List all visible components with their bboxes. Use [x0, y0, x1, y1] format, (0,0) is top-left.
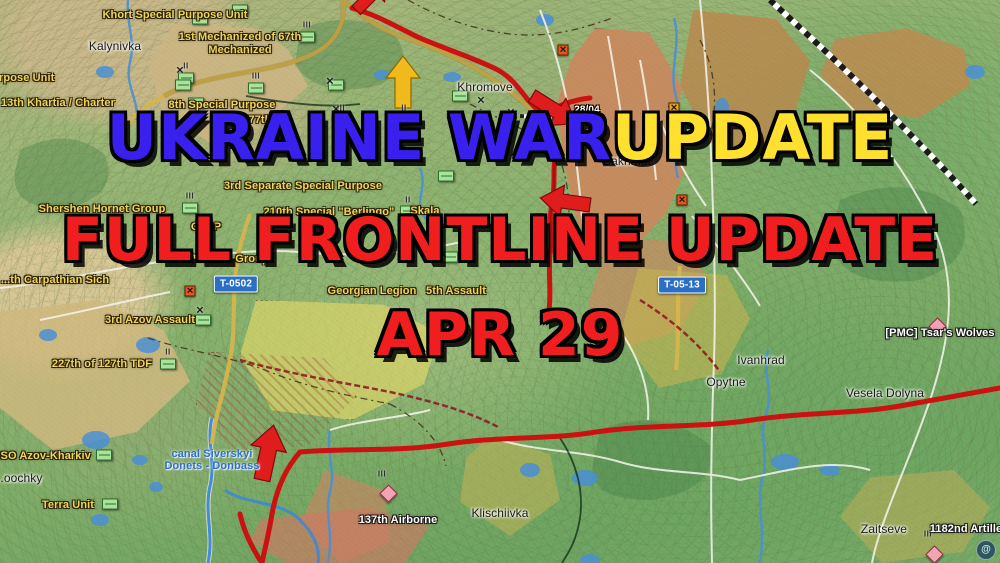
unit-symbol[interactable]: [396, 115, 412, 126]
unit-label-khort: Khort Special Purpose Unit: [102, 9, 247, 21]
unit-label-tactical-group: Tactical Group: [191, 253, 269, 265]
unit-label-3rd-azov: 3rd Azov Assault: [105, 314, 195, 326]
date-marker: 28/04: [574, 105, 600, 116]
echelon-marker: III: [303, 21, 311, 30]
unit-symbol[interactable]: [333, 115, 349, 126]
position-marker: ✕: [176, 66, 184, 77]
echelon-marker: II: [405, 196, 410, 205]
strike-marker[interactable]: ✕: [558, 45, 569, 56]
water-label-canal: canal Siverskyi Donets - Donbass: [164, 448, 259, 472]
position-marker: ✕: [439, 250, 447, 261]
unit-label-227th-tdf: 227th of 127th TDF: [52, 358, 152, 370]
unit-label-13th-khartia: 13th Khartia / Charter: [1, 97, 115, 109]
unit-label-sso-azov: SSO Azov-Kharkiv: [0, 450, 91, 462]
place-label-khutochky: ...oochky: [0, 471, 42, 485]
position-marker: ✕: [507, 108, 515, 119]
position-marker: ✕: [326, 77, 334, 88]
place-label-vesela-dolyna: Vesela Dolyna: [846, 386, 924, 400]
echelon-marker: III: [378, 470, 386, 479]
unit-label-tsars-wolves: [PMC] Tsar's Wolves: [885, 327, 994, 339]
unit-symbol[interactable]: [102, 499, 118, 510]
canal-line-2: Donets - Donbass: [164, 460, 259, 472]
map-thumbnail: II III III III II III II II III III ✕ ✕ …: [0, 0, 1000, 563]
unit-label-8th-sp: 8th Special Purpose: [168, 99, 275, 111]
unit-label-carpathian-sich: ...th Carpathian Sich: [1, 274, 109, 286]
unit-label-3rd-separate: 3rd Separate Special Purpose: [224, 180, 382, 192]
strike-marker[interactable]: ✕: [677, 195, 688, 206]
road-shield-t0513[interactable]: T-05-13: [658, 277, 706, 294]
strike-marker[interactable]: ✕: [669, 103, 680, 114]
place-label-bakhmut: Bakhmut: [603, 154, 651, 168]
unit-label-1st-mech: 1st Mechanized of 67th Mechanized: [155, 31, 325, 57]
place-label-zaitseve: Zaitseve: [861, 522, 907, 536]
unit-label-georgian-legion: Georgian Legion: [328, 285, 417, 297]
unit-symbol[interactable]: [175, 80, 191, 91]
unit-label-5th-assault: 5th Assault: [426, 285, 486, 297]
advance-arrow-bakhmut-west: [538, 182, 592, 221]
canal-line-1: canal Siverskyi: [171, 448, 252, 460]
unit-symbol[interactable]: [96, 450, 112, 461]
unit-label-purpose-unit: ...rpose Unit: [0, 72, 54, 84]
unit-symbol[interactable]: [160, 359, 176, 370]
place-label-khromove: Khromove: [457, 80, 513, 94]
place-label-ivanhrad: Ivanhrad: [737, 353, 785, 367]
unit-label-terra-unit: Terra Unit: [42, 499, 94, 511]
channel-watermark-icon: @: [976, 540, 996, 560]
position-marker: ✕: [477, 96, 485, 107]
place-label-kalynivka: Kalynivka: [89, 39, 141, 53]
unit-label-137th-airborne: 137th Airborne: [359, 514, 438, 526]
strike-marker[interactable]: ✕: [185, 286, 196, 297]
echelon-marker: II: [165, 348, 170, 357]
position-marker: ✕: [196, 306, 204, 317]
unit-label-shershen: Shershen Hornet Group: [39, 203, 166, 215]
road-shield-t0502[interactable]: T-0502: [214, 276, 258, 293]
echelon-marker: II: [401, 104, 406, 113]
unit-symbol[interactable]: [438, 171, 454, 182]
place-label-opytne: Opytne: [706, 375, 745, 389]
unit-symbol[interactable]: [248, 83, 264, 94]
unit-label-77th: 77th: [248, 114, 271, 126]
echelon-marker: III: [252, 72, 260, 81]
unit-label-1182nd-artillery: 1182nd Artille: [930, 523, 1000, 535]
place-label-klischiivka: Klischiivka: [471, 506, 528, 520]
unit-label-ozsp: OZSP: [191, 221, 221, 233]
echelon-marker: III: [186, 192, 194, 201]
unit-symbol[interactable]: [182, 203, 198, 214]
position-marker: ✕: [332, 105, 340, 116]
unit-label-skala: Skala: [410, 205, 439, 217]
unit-label-210th-berlingo: 210th Special "Berlingo": [264, 206, 395, 218]
